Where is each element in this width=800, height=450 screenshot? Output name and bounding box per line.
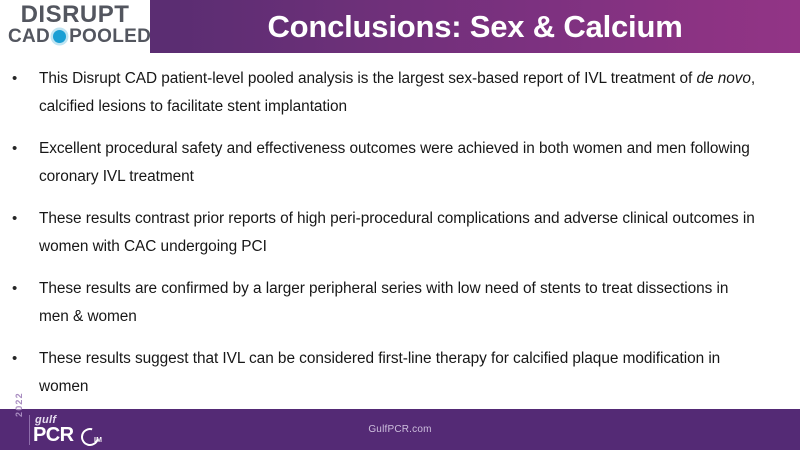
- bullet-text: These results are confirmed by a larger …: [39, 275, 760, 331]
- logo-dot-icon: [53, 30, 66, 43]
- list-item: • These results suggest that IVL can be …: [0, 345, 800, 401]
- logo-divider: [29, 415, 30, 445]
- bullet-text: These results suggest that IVL can be co…: [39, 345, 760, 401]
- page-title: Conclusions: Sex & Calcium: [150, 0, 800, 53]
- bullet-marker-icon: •: [9, 135, 39, 163]
- disrupt-cad-pooled-logo: DISRUPT CADPOOLED: [0, 0, 150, 53]
- bullet-marker-icon: •: [9, 65, 39, 93]
- bullet-text: Excellent procedural safety and effectiv…: [39, 135, 760, 191]
- list-item: • These results are confirmed by a large…: [0, 275, 800, 331]
- footer-brand-main: PCR: [33, 425, 73, 445]
- bullet-text: These results contrast prior reports of …: [39, 205, 760, 261]
- footer-year-label: 2022: [14, 392, 24, 417]
- footer-brand-suffix: IM: [94, 437, 102, 444]
- slide-footer-bar: GulfPCR.com 2022 gulf PCR IM: [0, 409, 800, 450]
- logo-subtitle-row: CADPOOLED: [8, 27, 142, 47]
- logo-disrupt-text: DISRUPT: [8, 4, 142, 26]
- bullet-marker-icon: •: [9, 275, 39, 303]
- bullet-marker-icon: •: [9, 205, 39, 233]
- bullet-text: This Disrupt CAD patient-level pooled an…: [39, 65, 760, 121]
- list-item: • This Disrupt CAD patient-level pooled …: [0, 65, 800, 121]
- list-item: • These results contrast prior reports o…: [0, 205, 800, 261]
- list-item: • Excellent procedural safety and effect…: [0, 135, 800, 191]
- slide-body: • This Disrupt CAD patient-level pooled …: [0, 53, 800, 409]
- bullet-marker-icon: •: [9, 345, 39, 373]
- logo-cad-text: CAD: [8, 26, 50, 47]
- gulf-pcr-logo: 2022 gulf PCR IM: [14, 414, 124, 448]
- logo-pooled-text: POOLED: [69, 26, 151, 47]
